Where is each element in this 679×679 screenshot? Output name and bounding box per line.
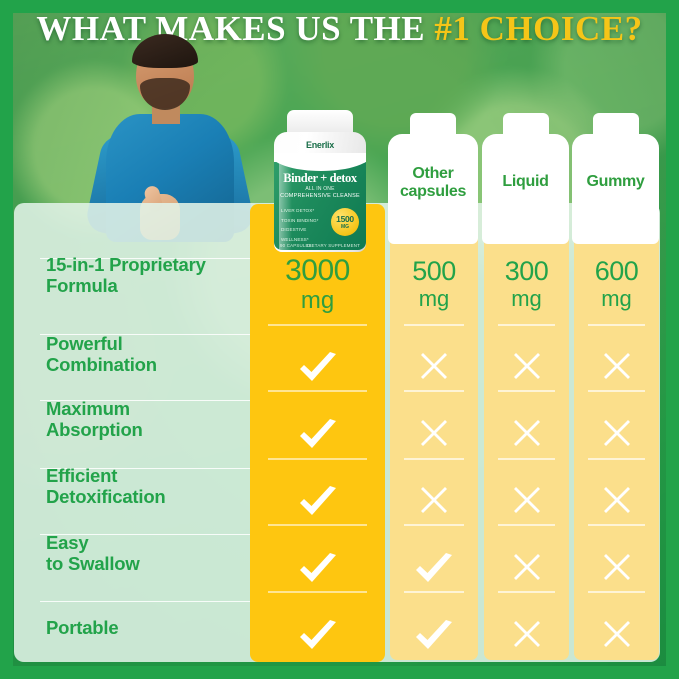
dose-unit: mg [574, 288, 659, 310]
product-dosage-badge: 1500 MG [331, 208, 359, 236]
badge-unit: MG [331, 224, 359, 230]
cross-icon-liquid [484, 553, 569, 586]
cell-divider [268, 324, 367, 326]
check-icon-other-capsules [390, 553, 478, 592]
bottle-liquid: Liquid [482, 113, 569, 245]
check-icon-hero-product [250, 486, 385, 525]
badge-number: 1500 [331, 214, 359, 224]
dose-unit: mg [484, 288, 569, 310]
comparison-infographic: WHAT MAKES US THE #1 CHOICE? 15-in-1 Pro… [0, 0, 679, 679]
check-icon-hero-product [250, 419, 385, 458]
dose-unit: mg [390, 288, 478, 310]
feature-label-line2: Formula [46, 276, 261, 297]
feature-label-line1: Easy [46, 533, 261, 554]
cross-icon-liquid [484, 419, 569, 452]
bottle-highlight [279, 156, 292, 252]
bottle-label-line1: Other [388, 165, 478, 183]
cell-divider [588, 324, 645, 326]
cell-divider [498, 458, 555, 460]
bottle-label-liquid: Liquid [482, 173, 569, 191]
cell-divider [498, 390, 555, 392]
feature-label-easy-to-swallow: Easy to Swallow [46, 533, 261, 574]
cross-icon-liquid [484, 352, 569, 385]
cell-divider [498, 324, 555, 326]
feature-label-efficient-detoxification: Efficient Detoxification [46, 466, 261, 507]
dose-value-hero: 3000 mg [250, 256, 385, 313]
product-bottle-body: Enerlix Binder + detox ALL IN ONE COMPRE… [274, 132, 366, 252]
dose-value-gummy: 600 mg [574, 258, 659, 310]
dose-number: 300 [484, 258, 569, 285]
cross-icon-other-capsules [390, 352, 478, 385]
feature-label-line1: Portable [46, 618, 261, 639]
title-gold-text: #1 CHOICE? [434, 9, 642, 48]
cell-divider [268, 458, 367, 460]
row-divider [40, 601, 250, 602]
cell-divider [588, 591, 645, 593]
check-icon-hero-product [250, 553, 385, 592]
bottle-label-other-capsules: Other capsules [388, 165, 478, 201]
dose-number: 500 [390, 258, 478, 285]
cross-icon-other-capsules [390, 419, 478, 452]
cell-divider [404, 524, 464, 526]
feature-label-maximum-absorption: Maximum Absorption [46, 399, 261, 440]
feature-label-line1: Efficient [46, 466, 261, 487]
feature-label-column: 15-in-1 Proprietary Formula Powerful Com… [14, 203, 248, 662]
bottle-other-capsules: Other capsules [388, 113, 478, 245]
cross-icon-gummy [574, 419, 659, 452]
athlete-hair [132, 34, 198, 68]
cross-icon-liquid [484, 486, 569, 519]
dose-number: 600 [574, 258, 659, 285]
check-icon-hero-product [250, 620, 385, 659]
feature-label-line2: Detoxification [46, 487, 261, 508]
feature-label-line2: Combination [46, 355, 261, 376]
feature-label-line1: Maximum [46, 399, 261, 420]
bottle-label-line2: capsules [388, 183, 478, 201]
feature-label-portable: Portable [46, 618, 261, 639]
feature-label-powerful-combination: Powerful Combination [46, 334, 261, 375]
feature-label-line1: 15-in-1 Proprietary [46, 255, 261, 276]
cross-icon-gummy [574, 352, 659, 385]
cell-divider [588, 524, 645, 526]
cross-icon-gummy [574, 620, 659, 653]
bottle-gummy: Gummy [572, 113, 659, 245]
cell-divider [404, 458, 464, 460]
cell-divider [404, 390, 464, 392]
check-icon-other-capsules [390, 620, 478, 659]
product-brand-name: Enerlix [274, 140, 366, 150]
cell-divider [404, 324, 464, 326]
cell-divider [498, 591, 555, 593]
cross-icon-other-capsules [390, 486, 478, 519]
cross-icon-gummy [574, 486, 659, 519]
athlete-beard [140, 78, 190, 110]
feature-label-line2: to Swallow [46, 554, 261, 575]
product-footer-supplement-text: DIETARY SUPPLEMENT [307, 243, 360, 248]
cell-divider [588, 458, 645, 460]
feature-label-formula: 15-in-1 Proprietary Formula [46, 255, 261, 296]
dose-value-liquid: 300 mg [484, 258, 569, 310]
product-bottle-enerlix: Enerlix Binder + detox ALL IN ONE COMPRE… [274, 110, 366, 252]
dose-unit: mg [250, 289, 385, 313]
dose-value-other-capsules: 500 mg [390, 258, 478, 310]
feature-label-line1: Powerful [46, 334, 261, 355]
dose-number: 3000 [250, 256, 385, 286]
feature-label-line2: Absorption [46, 420, 261, 441]
cross-icon-liquid [484, 620, 569, 653]
cell-divider [498, 524, 555, 526]
cross-icon-gummy [574, 553, 659, 586]
cell-divider [588, 390, 645, 392]
bottle-label-gummy: Gummy [572, 173, 659, 191]
check-icon-hero-product [250, 352, 385, 391]
